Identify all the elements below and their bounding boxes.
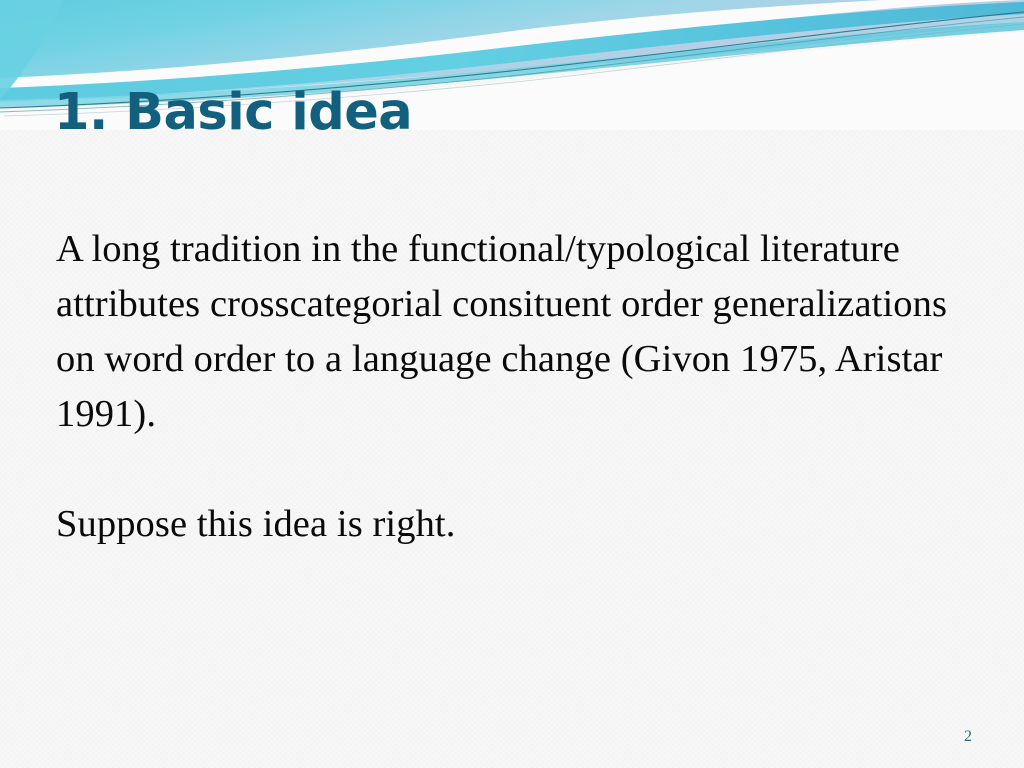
body-paragraph-1: A long tradition in the functional/typol… (56, 222, 986, 442)
page-number: 2 (964, 728, 972, 746)
paragraph-spacer (56, 442, 986, 497)
presentation-slide: 1. Basic idea A long tradition in the fu… (0, 0, 1024, 768)
body-paragraph-2: Suppose this idea is right. (56, 497, 986, 552)
title-block: 1. Basic idea (54, 86, 954, 139)
slide-body-content: A long tradition in the functional/typol… (56, 222, 986, 552)
page-title: 1. Basic idea (54, 86, 954, 139)
